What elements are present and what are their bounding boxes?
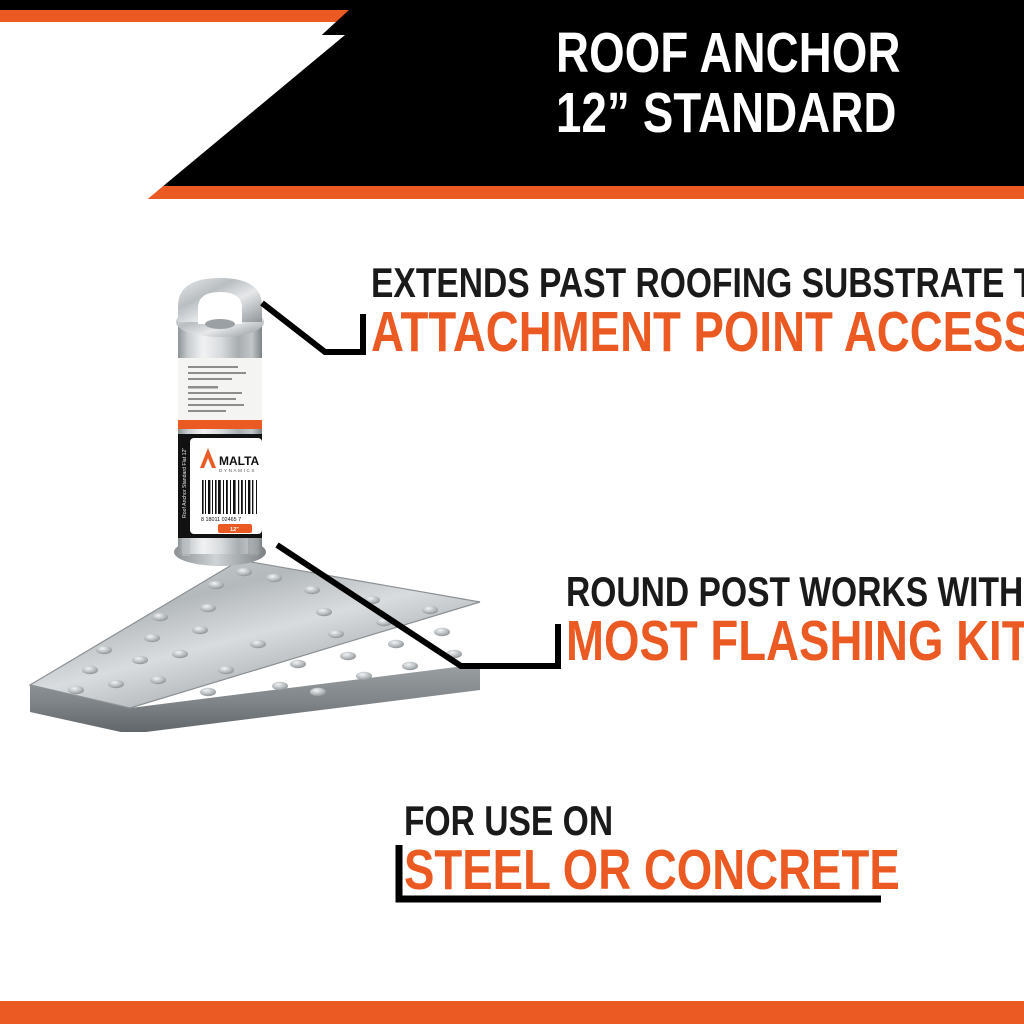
header-banner: ROOF ANCHOR 12” STANDARD bbox=[0, 0, 1024, 205]
callout-attachment-small: EXTENDS PAST ROOFING SUBSTRATE TO MAKE bbox=[371, 262, 1024, 304]
callout-material-small: FOR USE ON bbox=[404, 800, 900, 842]
callout-attachment: EXTENDS PAST ROOFING SUBSTRATE TO MAKE A… bbox=[371, 262, 1024, 361]
bottom-accent-bar bbox=[0, 1001, 1024, 1024]
label-badge-text: 12" bbox=[230, 527, 239, 533]
base-plate bbox=[30, 538, 480, 732]
header-title-line-2: 12” STANDARD bbox=[556, 86, 924, 140]
callout-flashing: ROUND POST WORKS WITH MOST FLASHING KITS bbox=[566, 571, 1024, 670]
callout-flashing-big: MOST FLASHING KITS bbox=[566, 613, 1024, 670]
anchor-post: Roof Anchor Standard Flat 12" MALTA DYNA… bbox=[176, 278, 264, 556]
instruction-label bbox=[178, 358, 262, 429]
product-infographic: ROOF ANCHOR 12” STANDARD bbox=[0, 0, 1024, 1024]
callout-flashing-small: ROUND POST WORKS WITH bbox=[566, 571, 1024, 613]
brand-label: Roof Anchor Standard Flat 12" MALTA DYNA… bbox=[178, 434, 262, 538]
brand-name: MALTA bbox=[219, 454, 260, 468]
callout-material: FOR USE ON STEEL OR CONCRETE bbox=[404, 800, 1024, 899]
d-ring-eye bbox=[176, 278, 264, 337]
header-title-line-1: ROOF ANCHOR bbox=[556, 26, 924, 80]
barcode-digits: 8 18011 02465 7 bbox=[201, 517, 241, 523]
callout-material-big: STEEL OR CONCRETE bbox=[404, 842, 900, 899]
header-title: ROOF ANCHOR 12” STANDARD bbox=[556, 26, 1016, 146]
label-side-text: Roof Anchor Standard Flat 12" bbox=[182, 448, 188, 518]
callout-attachment-big: ATTACHMENT POINT ACCESSIBLE bbox=[371, 304, 1024, 361]
label-orange-stripe bbox=[178, 420, 262, 429]
brand-subname: DYNAMICS bbox=[219, 468, 256, 473]
